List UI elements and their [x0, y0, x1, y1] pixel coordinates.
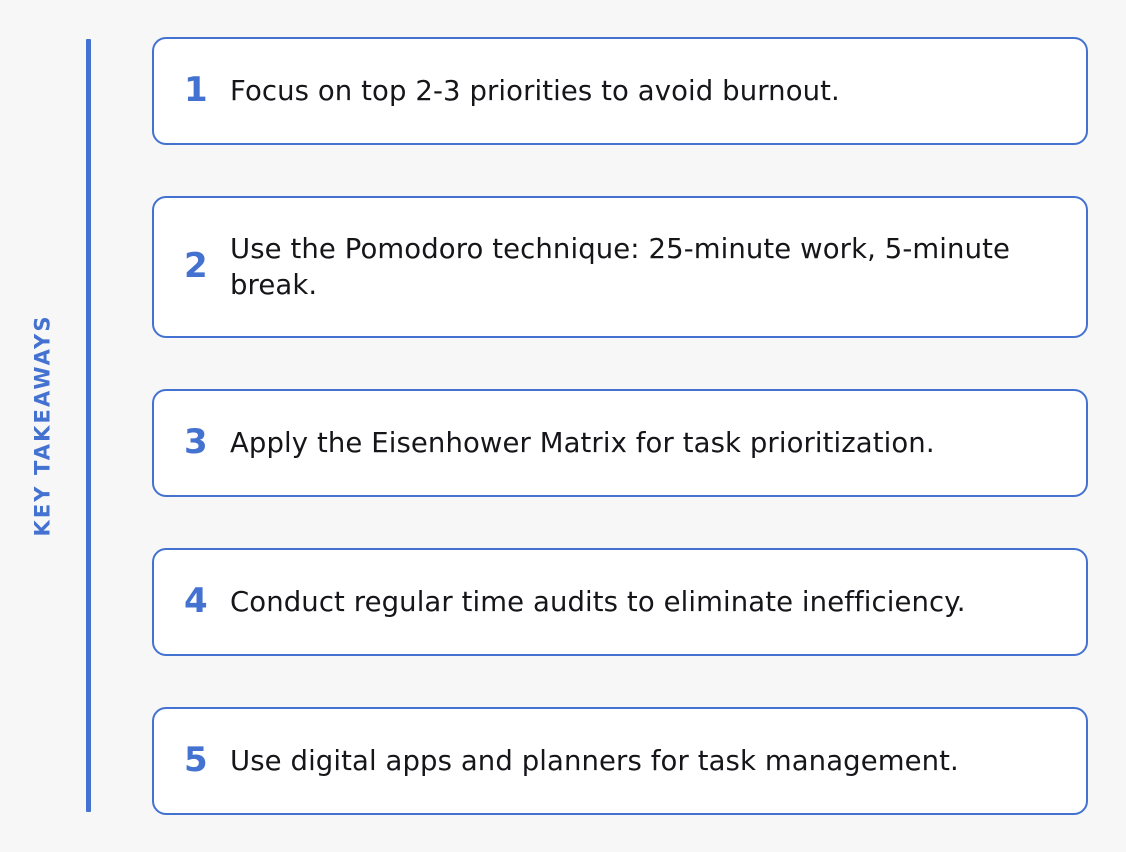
takeaway-text: Use the Pomodoro technique: 25-minute wo… [230, 231, 1052, 304]
takeaway-number: 5 [184, 742, 230, 779]
takeaway-card[interactable]: 2 Use the Pomodoro technique: 25-minute … [152, 196, 1088, 338]
takeaway-card[interactable]: 1 Focus on top 2-3 priorities to avoid b… [152, 37, 1088, 145]
takeaway-text: Apply the Eisenhower Matrix for task pri… [230, 425, 1052, 461]
takeaway-number: 4 [184, 583, 230, 620]
section-label-container: KEY TAKEAWAYS [0, 39, 86, 812]
takeaways-list: 1 Focus on top 2-3 priorities to avoid b… [152, 37, 1088, 815]
takeaway-card[interactable]: 5 Use digital apps and planners for task… [152, 707, 1088, 815]
key-takeaways-board: KEY TAKEAWAYS 1 Focus on top 2-3 priorit… [0, 0, 1126, 852]
takeaway-card[interactable]: 4 Conduct regular time audits to elimina… [152, 548, 1088, 656]
takeaway-number: 2 [184, 248, 230, 285]
section-label: KEY TAKEAWAYS [33, 314, 54, 536]
takeaway-number: 1 [184, 72, 230, 109]
vertical-accent-bar [86, 39, 91, 812]
takeaway-card[interactable]: 3 Apply the Eisenhower Matrix for task p… [152, 389, 1088, 497]
takeaway-text: Conduct regular time audits to eliminate… [230, 584, 1052, 620]
takeaway-number: 3 [184, 424, 230, 461]
takeaway-text: Use digital apps and planners for task m… [230, 743, 1052, 779]
takeaway-text: Focus on top 2-3 priorities to avoid bur… [230, 73, 1052, 109]
